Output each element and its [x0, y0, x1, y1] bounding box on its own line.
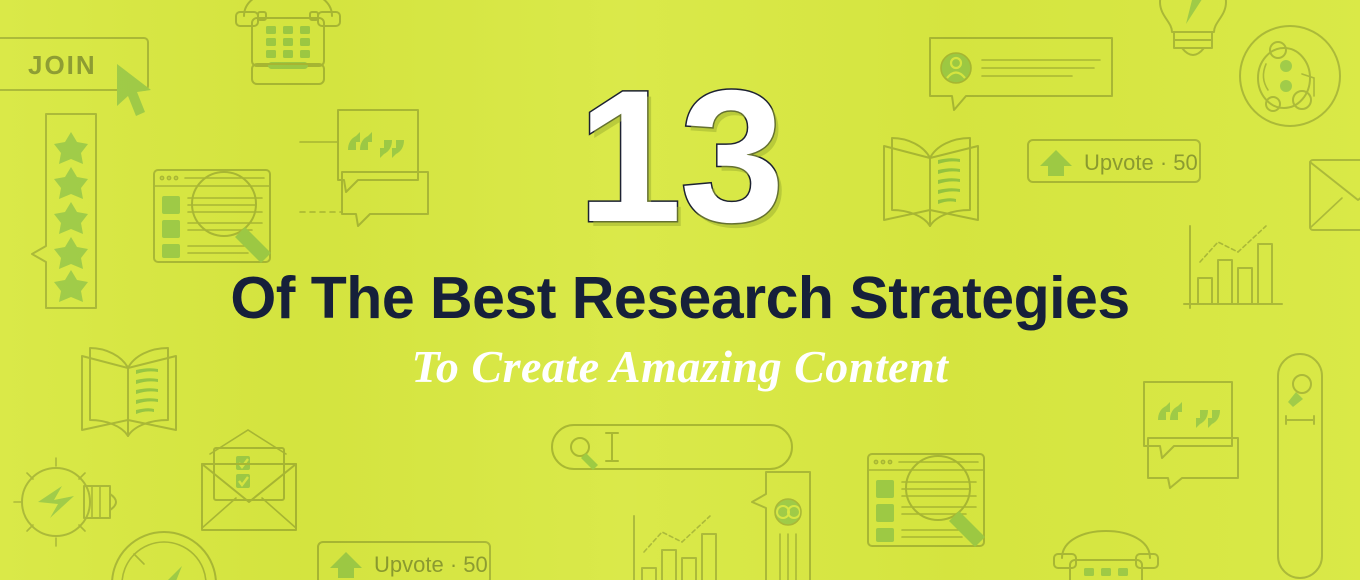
- browser-search-results-icon: [152, 168, 282, 268]
- compass-icon: [104, 524, 234, 580]
- promo-banner: JOIN: [0, 0, 1360, 580]
- star-icon: [54, 270, 88, 302]
- hero-subheadline: To Create Amazing Content: [412, 340, 949, 393]
- search-icon: [581, 453, 598, 470]
- star-icon: [54, 132, 88, 164]
- upvote-badge[interactable]: Upvote · 50: [1026, 138, 1206, 186]
- upvote-badge-label: Upvote · 50: [374, 552, 488, 577]
- upvote-badge-label: Upvote · 50: [1084, 150, 1198, 175]
- star-icon: [54, 202, 88, 234]
- telephone-icon: [1046, 514, 1166, 580]
- search-pill-icon[interactable]: [1276, 352, 1360, 580]
- cursor-arrow-icon: [113, 62, 161, 122]
- quote-bubble-icon: [300, 108, 440, 228]
- hero-number: 13: [577, 78, 782, 236]
- star-icon: [54, 237, 88, 269]
- hero-headline: Of The Best Research Strategies: [230, 264, 1129, 332]
- speech-bubble-icon: [748, 470, 858, 580]
- upvote-arrow-icon: [1040, 150, 1072, 176]
- search-bar[interactable]: [550, 419, 810, 480]
- envelope-icon: [1308, 152, 1360, 242]
- upvote-arrow-icon: [330, 552, 362, 578]
- text-caret-icon: [606, 433, 618, 461]
- join-button-label: JOIN: [28, 50, 97, 80]
- open-book-icon: [76, 342, 186, 442]
- upvote-badge[interactable]: Upvote · 50: [316, 540, 496, 580]
- open-book-icon: [878, 132, 988, 232]
- telephone-icon: [228, 0, 348, 82]
- comment-bubble-avatar-icon: [928, 36, 1118, 126]
- quote-bubble-icon: [1118, 378, 1248, 488]
- bar-chart-trend-icon: [1182, 222, 1292, 322]
- bar-chart-trend-icon: [626, 512, 736, 580]
- reddit-alien-icon: [1228, 18, 1358, 143]
- browser-search-results-icon: [866, 452, 1006, 572]
- star-rating-bubble: [36, 112, 106, 312]
- star-icon: [54, 167, 88, 199]
